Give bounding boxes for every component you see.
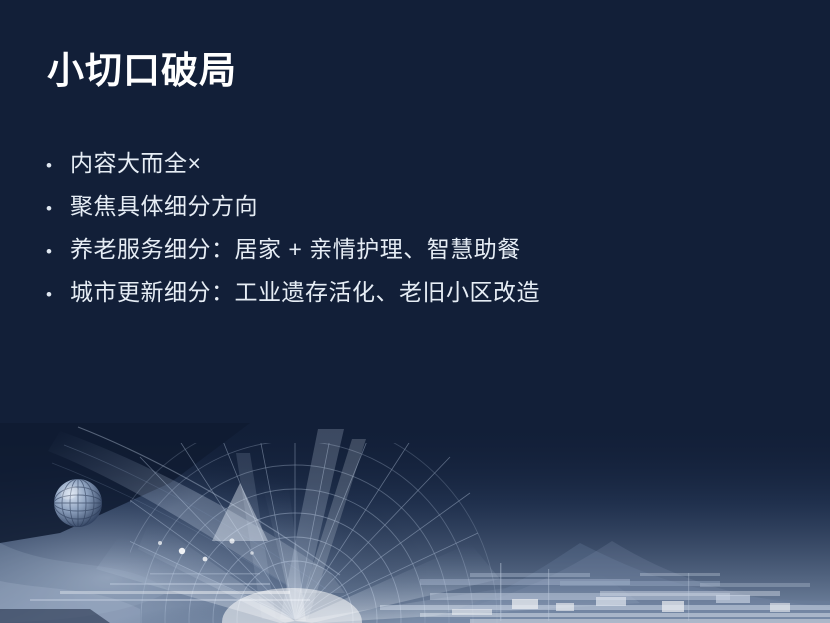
bullet-dot-icon: • xyxy=(40,280,70,310)
bullet-item-4: • 城市更新细分：工业遗存活化、老旧小区改造 xyxy=(40,277,790,320)
slide-title: 小切口破局 xyxy=(47,48,237,94)
bullet-item-1: • 内容大而全× xyxy=(40,148,790,191)
bullet-dot-icon: • xyxy=(40,194,70,224)
bullet-text-4: 城市更新细分：工业遗存活化、老旧小区改造 xyxy=(70,277,540,307)
bullet-item-2: • 聚焦具体细分方向 xyxy=(40,191,790,234)
bullet-list: • 内容大而全× • 聚焦具体细分方向 • 养老服务细分：居家 + 亲情护理、智… xyxy=(40,148,790,320)
wireframe-sphere-shape xyxy=(54,479,102,527)
bullet-dot-icon: • xyxy=(40,237,70,267)
bullet-text-3: 养老服务细分：居家 + 亲情护理、智慧助餐 xyxy=(70,234,521,264)
bullet-item-3: • 养老服务细分：居家 + 亲情护理、智慧助餐 xyxy=(40,234,790,277)
bullet-text-1: 内容大而全× xyxy=(70,148,201,178)
bullet-dot-icon: • xyxy=(40,151,70,181)
abstract-tech-network-graphic xyxy=(0,423,830,623)
slide-canvas: 小切口破局 • 内容大而全× • 聚焦具体细分方向 • 养老服务细分：居家 + … xyxy=(0,0,830,623)
bullet-text-2: 聚焦具体细分方向 xyxy=(70,191,258,221)
